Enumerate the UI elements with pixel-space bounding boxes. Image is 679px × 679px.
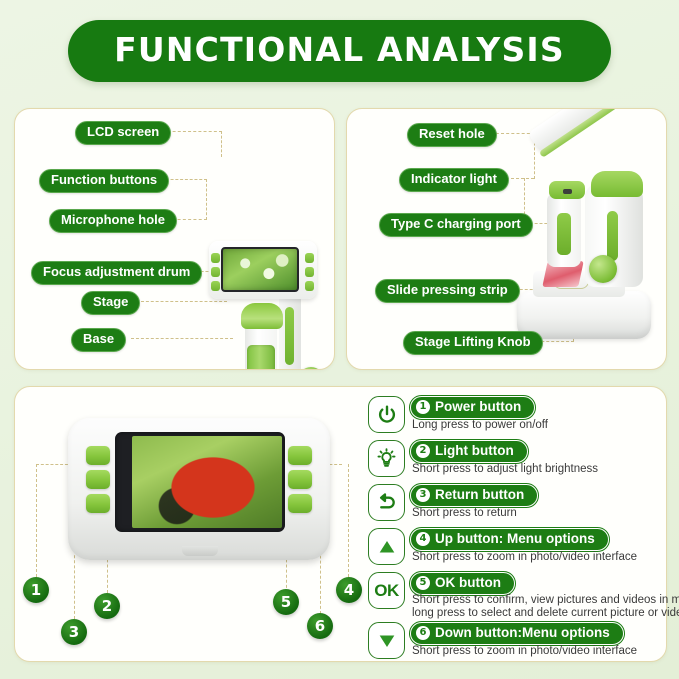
callout-microphone-hole[interactable]: Microphone hole: [49, 209, 177, 233]
leader-marker-4-v: [348, 464, 349, 577]
legend-text-up: Up button: Menu options: [435, 531, 595, 547]
legend-desc-light: Short press to adjust light brightness: [412, 462, 598, 476]
legend-label-light[interactable]: 2 Light button: [410, 440, 528, 463]
legend-number-6: 6: [416, 626, 430, 640]
legend-text-down: Down button:Menu options: [435, 625, 610, 641]
marker-5[interactable]: 5: [273, 589, 299, 615]
handheld-lcd-microscope-image: [68, 418, 330, 560]
callout-function-buttons[interactable]: Function buttons: [39, 169, 169, 193]
marker-3[interactable]: 3: [61, 619, 87, 645]
legend-desc-power: Long press to power on/off: [412, 418, 548, 432]
legend-label-return[interactable]: 3 Return button: [410, 484, 538, 507]
legend-text-ok: OK button: [435, 575, 501, 591]
legend-label-up[interactable]: 4 Up button: Menu options: [410, 528, 609, 551]
legend-text-power: Power button: [435, 399, 521, 415]
marker-4[interactable]: 4: [336, 577, 362, 603]
callout-reset-hole[interactable]: Reset hole: [407, 123, 497, 147]
callout-base[interactable]: Base: [71, 328, 126, 352]
callout-slide-pressing-strip[interactable]: Slide pressing strip: [375, 279, 520, 303]
callout-stage[interactable]: Stage: [81, 291, 140, 315]
digital-microscope-front-image: [193, 241, 333, 370]
front-view-panel: LCD screen Function buttons Microphone h…: [14, 108, 335, 370]
leader-marker-1-v: [36, 464, 37, 577]
callout-lcd-screen[interactable]: LCD screen: [75, 121, 171, 145]
ok-icon[interactable]: OK: [368, 572, 405, 609]
callout-indicator-light[interactable]: Indicator light: [399, 168, 509, 192]
page-title-banner: FUNCTIONAL ANALYSIS: [0, 20, 679, 82]
legend-number-3: 3: [416, 488, 430, 502]
legend-number-4: 4: [416, 532, 430, 546]
marker-1[interactable]: 1: [23, 577, 49, 603]
back-view-panel: Reset hole Indicator light Type C chargi…: [346, 108, 667, 370]
legend-desc-return: Short press to return: [412, 506, 517, 520]
ok-icon-label: OK: [374, 581, 399, 601]
legend-desc-down: Short press to zoom in photo/video inter…: [412, 644, 637, 658]
lightbulb-icon[interactable]: [368, 440, 405, 477]
triangle-up-icon[interactable]: [368, 528, 405, 565]
callout-type-c-charging-port[interactable]: Type C charging port: [379, 213, 533, 237]
digital-microscope-back-image: [511, 131, 661, 353]
legend-number-1: 1: [416, 400, 430, 414]
return-arrow-icon[interactable]: [368, 484, 405, 521]
legend-label-down[interactable]: 6 Down button:Menu options: [410, 622, 624, 645]
page-title-pill: FUNCTIONAL ANALYSIS: [68, 20, 611, 82]
legend-number-2: 2: [416, 444, 430, 458]
legend-label-power[interactable]: 1 Power button: [410, 396, 535, 419]
leader-microphone-hole-v: [206, 179, 207, 220]
legend-desc-ok-2: long press to select and delete current …: [412, 606, 679, 620]
page-title: FUNCTIONAL ANALYSIS: [114, 30, 565, 69]
callout-focus-adjustment-drum[interactable]: Focus adjustment drum: [31, 261, 202, 285]
callout-stage-lifting-knob[interactable]: Stage Lifting Knob: [403, 331, 543, 355]
marker-6[interactable]: 6: [307, 613, 333, 639]
power-icon[interactable]: [368, 396, 405, 433]
triangle-down-icon[interactable]: [368, 622, 405, 659]
legend-text-light: Light button: [435, 443, 514, 459]
legend-number-5: 5: [416, 576, 430, 590]
leader-lcd-screen-v: [221, 131, 222, 157]
legend-desc-up: Short press to zoom in photo/video inter…: [412, 550, 637, 564]
legend-text-return: Return button: [435, 487, 524, 503]
marker-2[interactable]: 2: [94, 593, 120, 619]
legend-label-ok[interactable]: 5 OK button: [410, 572, 515, 595]
